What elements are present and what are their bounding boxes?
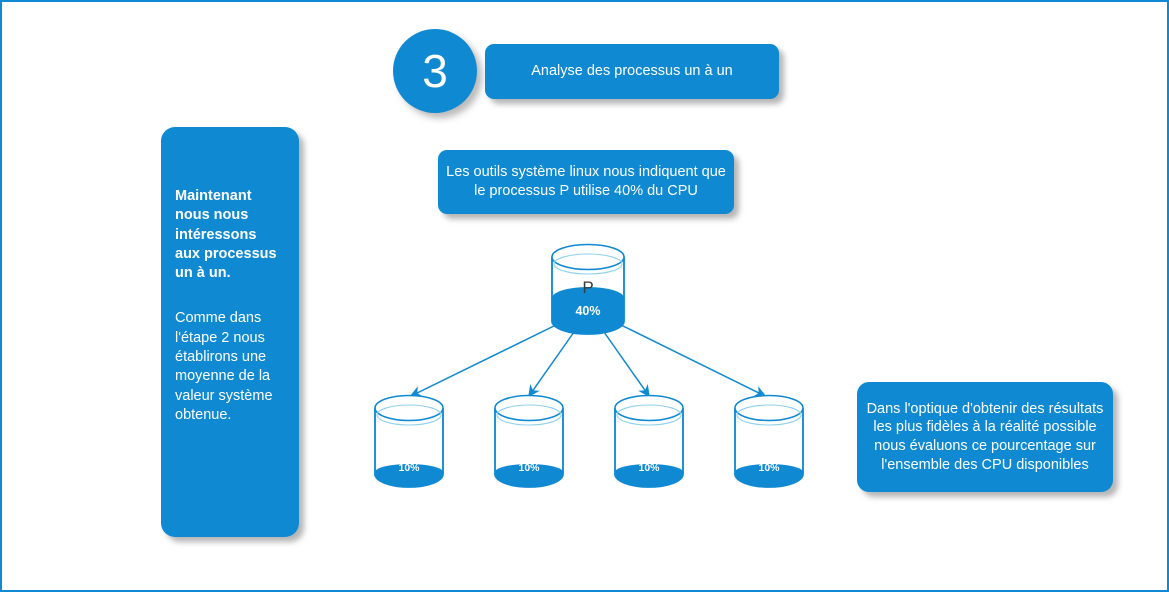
sidebar-note: Maintenant nous nous intéressons aux pro…	[161, 127, 299, 537]
page-title: Analyse des processus un à un	[485, 44, 779, 99]
process-cylinder-child: 10%	[613, 394, 685, 490]
cylinder-fill-surface	[495, 464, 563, 480]
step-number-badge: 3	[393, 29, 477, 113]
process-cylinder-parent: P 40%	[550, 244, 626, 334]
cylinder-fill-surface	[615, 464, 683, 480]
connector-line-1	[411, 324, 558, 396]
connector-line-4	[619, 324, 765, 396]
connector-line-3	[604, 332, 649, 396]
callout-right-text: Dans l'optique d'obtenir des résultats l…	[866, 400, 1104, 474]
process-cylinder-child: 10%	[493, 394, 565, 490]
process-cylinder-child: 10%	[373, 394, 445, 490]
step-number-label: 3	[393, 29, 477, 113]
cylinder-fill-surface	[552, 287, 624, 309]
sidebar-note-heading: Maintenant nous nous intéressons aux pro…	[175, 187, 285, 283]
slide-canvas: 3 Analyse des processus un à un Maintena…	[0, 0, 1169, 592]
process-cylinder-child: 10%	[733, 394, 805, 490]
callout-top: Les outils système linux nous indiquent …	[438, 150, 734, 214]
connector-line-2	[529, 332, 574, 396]
sidebar-note-body: Comme dans l'étape 2 nous établirons une…	[175, 309, 285, 425]
page-title-text: Analyse des processus un à un	[531, 62, 733, 81]
callout-right: Dans l'optique d'obtenir des résultats l…	[857, 382, 1113, 492]
cylinder-fill-surface	[735, 464, 803, 480]
cylinder-fill-surface	[375, 464, 443, 480]
callout-top-text: Les outils système linux nous indiquent …	[446, 163, 726, 200]
